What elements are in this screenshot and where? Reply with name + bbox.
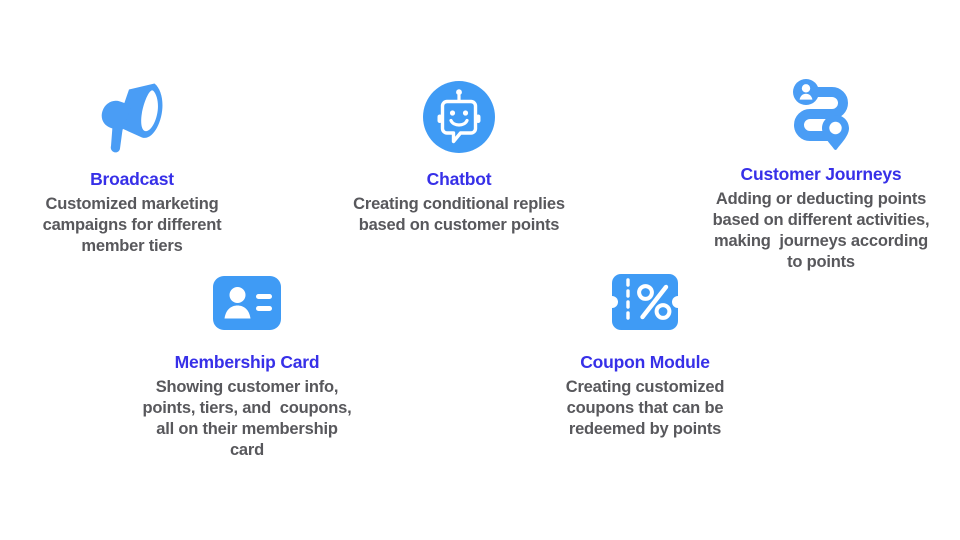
feature-description: Creating customized coupons that can be … (566, 377, 724, 440)
id-card-icon-wrap (211, 272, 283, 332)
feature-customer-journeys: Customer Journeys Adding or deducting po… (695, 80, 947, 273)
feature-chatbot: Chatbot Creating conditional replies bas… (337, 80, 581, 236)
coupon-percent-icon-wrap (609, 272, 681, 332)
coupon-percent-icon (609, 272, 681, 332)
megaphone-icon (94, 80, 170, 154)
journey-path-icon-wrap (782, 80, 860, 154)
feature-broadcast: Broadcast Customized marketing campaigns… (10, 80, 254, 257)
chatbot-robot-icon-wrap (422, 80, 496, 154)
feature-membership-card: Membership Card Showing customer info, p… (125, 272, 369, 461)
chatbot-robot-icon (422, 80, 496, 154)
feature-description: Showing customer info, points, tiers, an… (143, 377, 352, 461)
feature-description: Customized marketing campaigns for diffe… (43, 194, 222, 257)
feature-overview-slide: Broadcast Customized marketing campaigns… (0, 0, 960, 540)
feature-description: Adding or deducting points based on diff… (713, 189, 930, 273)
feature-description: Creating conditional replies based on cu… (353, 194, 565, 236)
feature-title: Broadcast (90, 169, 174, 191)
feature-title: Membership Card (175, 352, 320, 374)
feature-title: Coupon Module (580, 352, 710, 374)
journey-path-icon (782, 76, 860, 154)
feature-title: Chatbot (427, 169, 492, 191)
feature-title: Customer Journeys (741, 164, 902, 186)
id-card-icon (211, 274, 283, 332)
feature-coupon-module: Coupon Module Creating customized coupon… (530, 272, 760, 440)
megaphone-icon-wrap (94, 80, 170, 154)
